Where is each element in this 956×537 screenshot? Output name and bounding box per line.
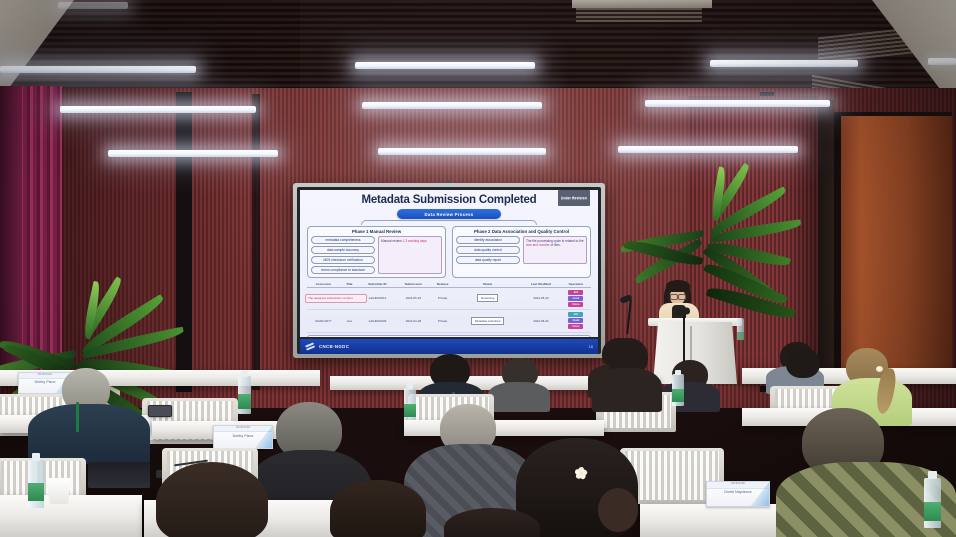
slide-table-wrap: Accession Title Submitter ID Submission … [307,281,591,333]
bottle-cap [407,383,414,388]
cell-submission: 2024-04-28 [396,310,431,332]
operation-badges: Edit Detail Delete [561,312,591,329]
phase-1-note-highlight: 1-3 working days [402,239,426,243]
phase-1-note-text: Manual review [381,239,402,243]
water-bottle-3 [404,388,416,422]
laptop-1[interactable] [88,462,150,488]
desk-front-right [640,504,790,537]
cell-submitter-id: subHRA0009 [359,310,396,332]
eyeglasses-icon [670,294,686,298]
slide-brace [361,220,537,225]
ceiling-light-11 [618,146,798,153]
placard-2-name: Dmitry Pisov [214,432,272,438]
phase-2-note-text-after: of files. [550,243,561,247]
phase-1-step-3: MD5 checksum verification [311,256,375,264]
speaker-hair-fringe [666,280,690,292]
bottle-label [924,502,941,521]
edit-badge[interactable]: Edit [568,312,583,317]
cell-operation: Edit Detail Delete [561,287,591,309]
ceiling-light-6 [60,106,256,113]
delete-badge[interactable]: Delete [568,302,583,307]
water-bottle-5 [672,374,684,406]
slide-bullets: Please ensure that the relevant files ha… [307,335,591,337]
display-screen[interactable]: Metadata Submission Completed Under Revi… [300,190,598,337]
cell-last-modified: 2024-05-20 [521,287,561,309]
hair-lock [598,488,638,532]
ceiling-light-8 [645,100,830,107]
slide-submissions-table: Accession Title Submitter ID Submission … [307,281,591,333]
ceiling-light-5 [58,2,128,9]
detail-badge[interactable]: Detail [568,318,583,323]
cell-submission: 2024-05-16 [396,287,431,309]
phase-2-note: The file processing cycle is related to … [523,236,587,264]
slide-content: Metadata Submission Completed Under Revi… [300,190,598,337]
slide-footer-brand: CNCB-NGDC [319,344,349,349]
ceiling-light-4 [928,58,956,65]
placard-2: CNCB-NGDC Dmitry Pisov [213,425,273,449]
slide-page-number: 18 [589,344,593,349]
phase-2-step-2: data quality control [456,246,520,254]
placard-3-name: Dmitri Naydenov [707,489,769,495]
ceiling [0,0,956,96]
cell-accession: HRA010277 [307,310,340,332]
phase-1-note: Manual review 1-3 working days [378,236,442,274]
bottle-label [238,394,251,408]
bottle-cap [32,453,41,461]
chair-slats [625,451,719,500]
phase-2-step-3: data quality report [456,256,520,264]
status-badge: Metadata submitted [471,317,504,325]
presentation-room-photo: Metadata Submission Completed Under Revi… [0,0,956,537]
ceiling-light-10 [378,148,546,155]
side-door[interactable] [834,112,952,377]
phase-1-step-2: data sample accuracy [311,246,375,254]
cncb-ngdc-logo-icon [305,343,316,350]
ceiling-light-1 [0,66,196,73]
desk-front-left [0,495,142,537]
slide-table-callout: The assigned submission number [305,294,367,303]
cell-release: Private [431,287,454,309]
bottle-cap [928,471,938,479]
edit-badge[interactable]: Edit [568,290,583,295]
phase-2-box: Phase 2 Data Association and Quality Con… [452,226,591,278]
ceiling-light-9 [108,150,278,157]
table-row[interactable]: HRA010277 test subHRA0009 2024-04-28 Pri… [307,310,591,332]
phase-1-step-4: terms compliance to standard [311,266,375,274]
bottle-cap [675,370,682,375]
podium-mic-stand [683,312,685,364]
ceiling-light-2 [355,62,535,69]
detail-badge[interactable]: Detail [568,296,583,301]
phase-2-heading: Phase 2 Data Association and Quality Con… [456,229,587,234]
phase-1-heading: Phase 1 Manual Review [311,229,442,234]
water-bottle-4 [924,478,941,528]
cell-status: Reviewing [454,287,521,309]
delete-badge[interactable]: Delete [568,324,583,329]
phase-2-steps: identify association data quality contro… [456,236,520,264]
bottle-label [28,483,44,501]
presentation-display[interactable]: Metadata Submission Completed Under Revi… [293,183,605,358]
phase-2-step-1: identify association [456,236,520,244]
phase-2-note-highlight: size and number [526,243,550,247]
water-bottle-1 [28,460,44,508]
flower-hairclip-icon [574,466,587,479]
door-frame [818,100,834,385]
cell-last-modified: 2024-05-02 [521,310,561,332]
slide-phases: Phase 1 Manual Review metadata completen… [307,226,591,278]
bottle-label [404,404,416,417]
phase-1-step-1: metadata completeness [311,236,375,244]
wall-column-left-2 [252,94,260,390]
operation-badges: Edit Detail Delete [561,290,591,307]
desk-mid-center [404,420,604,436]
hair-scrunchie-icon [876,366,883,372]
slide-title-text: Metadata Submission Completed [361,194,536,206]
lanyard-mid-1 [76,402,79,432]
slide-section-pill: Data Review Process [397,209,501,219]
ceiling-light-7 [362,102,542,109]
display-camera-icon [447,180,451,183]
cell-operation: Edit Detail Delete [561,310,591,332]
cell-title: test [340,310,359,332]
podium-water-bottle-icon [737,318,744,340]
slide-title: Metadata Submission Completed Under Revi… [307,194,591,207]
placard-3-header: CNCB-NGDC [707,482,769,489]
cell-status: Metadata submitted [454,310,521,332]
slide-footer: CNCB-NGDC 18 [300,339,598,354]
phase-1-steps: metadata completeness data sample accura… [311,236,375,274]
water-bottle-2 [238,376,251,414]
phone-1[interactable] [148,405,172,417]
cell-release: Private [431,310,454,332]
ceiling-light-3 [710,60,858,67]
bottle-cap [241,371,248,377]
bottle-label [672,389,684,401]
ceiling-panel-center [572,0,712,8]
slide-title-tag: Under Revision [558,190,590,206]
status-badge: Reviewing [477,294,498,302]
phase-1-box: Phase 1 Manual Review metadata completen… [307,226,446,278]
placard-3: CNCB-NGDC Dmitri Naydenov [706,481,770,507]
